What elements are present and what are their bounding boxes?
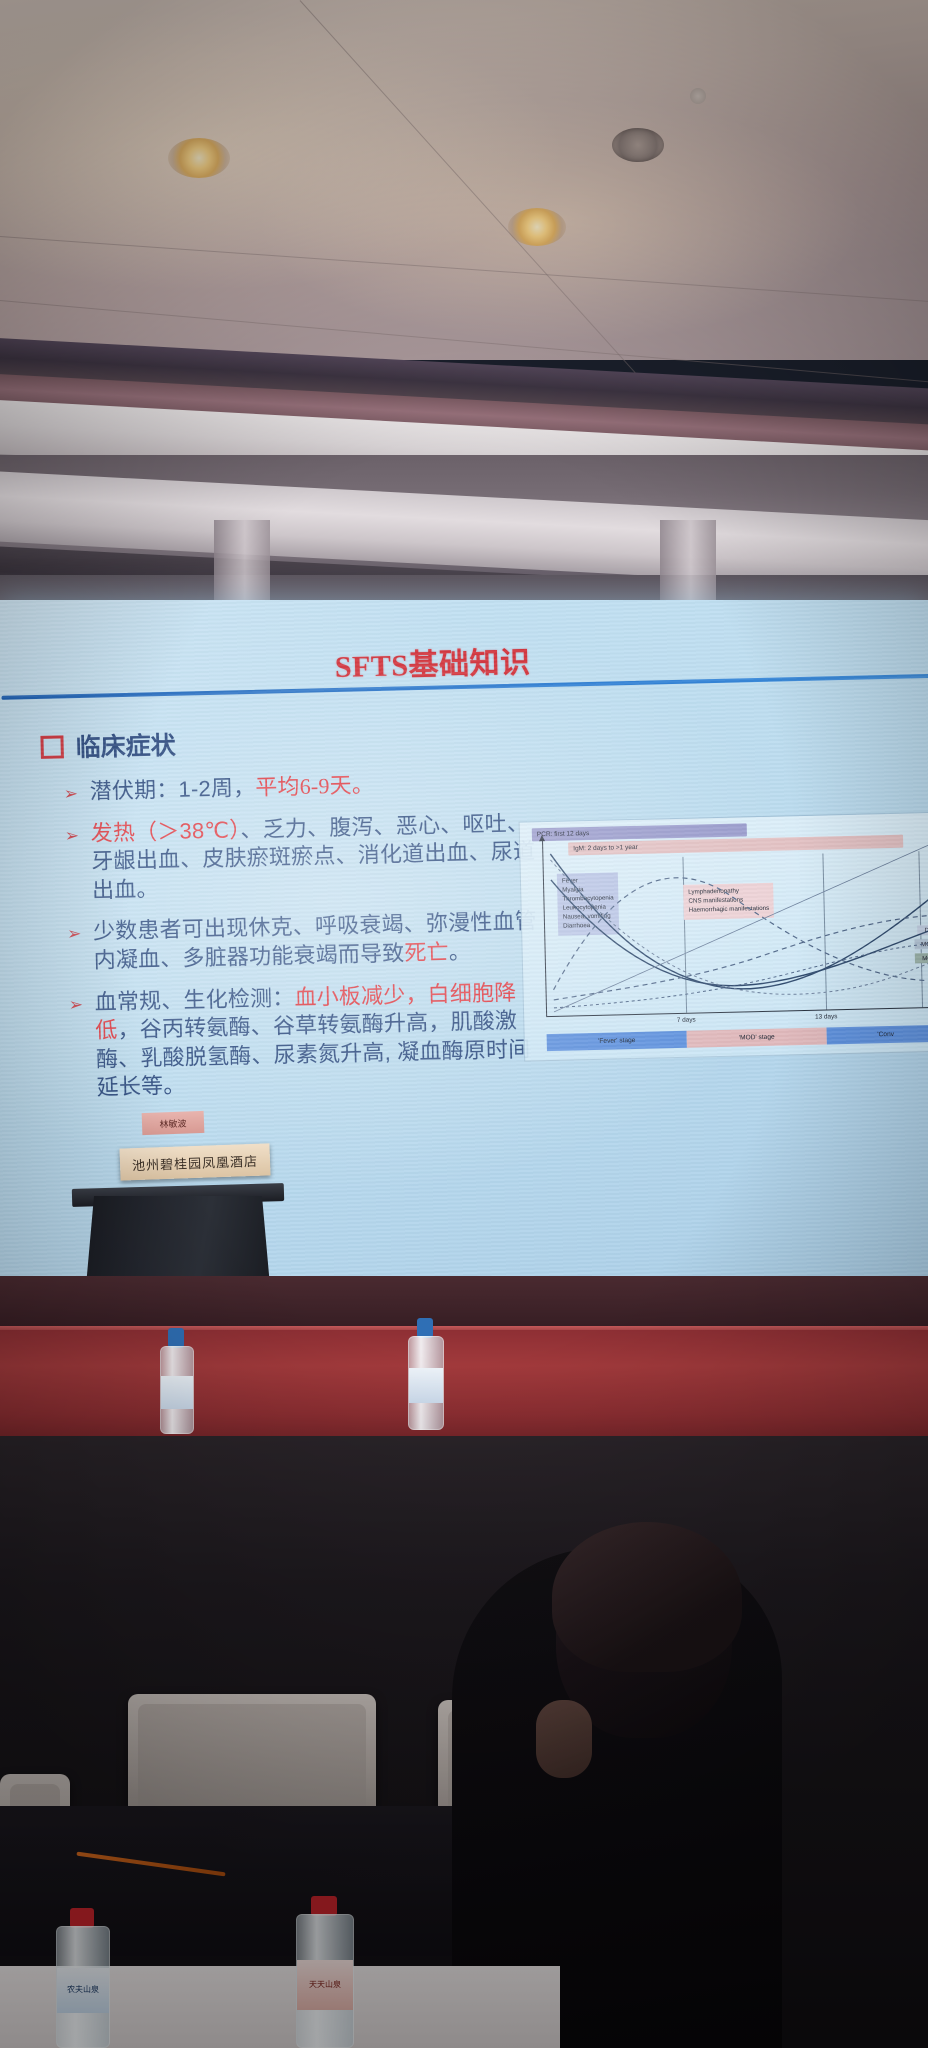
bullet-run: ，谷丙转氨酶、谷草转氨酶升高，肌酸激酶、乳酸脱氢酶、尿素氮升高, 凝血酶原时间延…	[96, 1008, 531, 1100]
slide-heading-label: 临床症状	[75, 726, 176, 764]
slide-title: SFTS基础知识	[334, 637, 531, 686]
water-bottle	[160, 1328, 192, 1434]
ceiling-glow	[0, 0, 928, 360]
bullet-run: 。	[449, 939, 472, 965]
smoke-detector-icon	[690, 88, 706, 104]
figure-curves	[542, 831, 928, 1016]
water-bottle: 天天山泉	[296, 1896, 352, 2048]
figure-stage-conv: 'Conv	[827, 1025, 928, 1045]
bullet-run-highlight: 发热（＞38℃）	[90, 817, 240, 846]
red-carpet	[0, 1330, 928, 1450]
audience-member-hand	[536, 1700, 592, 1778]
bottle-cap	[311, 1896, 338, 1916]
water-bottle: 农夫山泉	[56, 1908, 108, 2048]
bottle-body: 农夫山泉	[56, 1926, 110, 2048]
bottle-label: 农夫山泉	[57, 1968, 109, 2014]
bullet-run: 潜伏期：1-2周，	[89, 775, 255, 804]
screenshot-root: SFTS基础知识 临床症状 ➢ 潜伏期：1-2周，平均6-9天。 ➢ 发热（＞3…	[0, 0, 928, 2048]
slide-figure: PCR: first 12 days IgM: 2 days to >1 yea…	[519, 812, 928, 1062]
arrow-bullet-icon: ➢	[64, 785, 84, 802]
audience-member-hair	[552, 1522, 742, 1672]
bottle-label	[409, 1368, 443, 1403]
arrow-bullet-icon: ➢	[69, 995, 89, 1012]
figure-stage-mod: 'MOD' stage	[687, 1027, 827, 1047]
list-item: ➢ 发热（＞38℃）、乏力、腹泻、恶心、呕吐、牙龈出血、皮肤瘀斑瘀点、消化道出血…	[64, 809, 542, 906]
bullet-run: 血常规、生化检测：	[94, 985, 294, 1015]
bottle-label	[161, 1376, 193, 1409]
slide-heading: 临床症状	[40, 726, 176, 765]
list-item: ➢ 潜伏期：1-2周，平均6-9天。	[63, 767, 540, 807]
bottle-body	[160, 1346, 194, 1434]
bullet-run-highlight: 平均6-9天。	[255, 772, 374, 800]
bullet-run-highlight: 死亡	[404, 939, 449, 965]
figure-stage-fever: 'Fever' stage	[547, 1031, 687, 1051]
ceiling-downlight	[168, 138, 230, 178]
bottle-cap	[417, 1318, 433, 1338]
bullet-list: ➢ 潜伏期：1-2周，平均6-9天。 ➢ 发热（＞38℃）、乏力、腹泻、恶心、呕…	[63, 767, 547, 1116]
bottle-body	[408, 1336, 444, 1430]
bottle-cap	[168, 1328, 183, 1348]
arrow-bullet-icon: ➢	[65, 827, 85, 844]
bottle-cap	[70, 1908, 95, 1928]
podium-hotel-sign: 池州碧桂园凤凰酒店	[119, 1143, 270, 1180]
ceiling	[0, 0, 928, 360]
bullet-text: 发热（＞38℃）、乏力、腹泻、恶心、呕吐、牙龈出血、皮肤瘀斑瘀点、消化道出血、尿…	[90, 809, 542, 905]
list-item: ➢ 少数患者可出现休克、呼吸衰竭、弥漫性血管内凝血、多脏器功能衰竭而导致死亡。	[67, 908, 544, 976]
figure-x-tick: 7 days	[677, 1017, 696, 1024]
arrow-bullet-icon: ➢	[67, 925, 87, 942]
square-bullet-icon	[40, 735, 64, 759]
bottle-body: 天天山泉	[296, 1914, 354, 2048]
speaker-nameplate: 林敏波	[142, 1111, 205, 1135]
ceiling-vent-icon	[612, 128, 664, 162]
bullet-text: 血常规、生化检测：血小板减少，白细胞降低，谷丙转氨酶、谷草转氨酶升高，肌酸激酶、…	[94, 978, 547, 1103]
water-bottle	[408, 1318, 442, 1430]
bullet-text: 少数患者可出现休克、呼吸衰竭、弥漫性血管内凝血、多脏器功能衰竭而导致死亡。	[93, 908, 544, 976]
ceiling-downlight	[508, 208, 566, 246]
list-item: ➢ 血常规、生化检测：血小板减少，白细胞降低，谷丙转氨酶、谷草转氨酶升高，肌酸激…	[68, 978, 547, 1104]
figure-x-tick: 13 days	[815, 1013, 838, 1021]
bottle-label: 天天山泉	[297, 1960, 353, 2010]
bullet-text: 潜伏期：1-2周，平均6-9天。	[89, 771, 374, 806]
